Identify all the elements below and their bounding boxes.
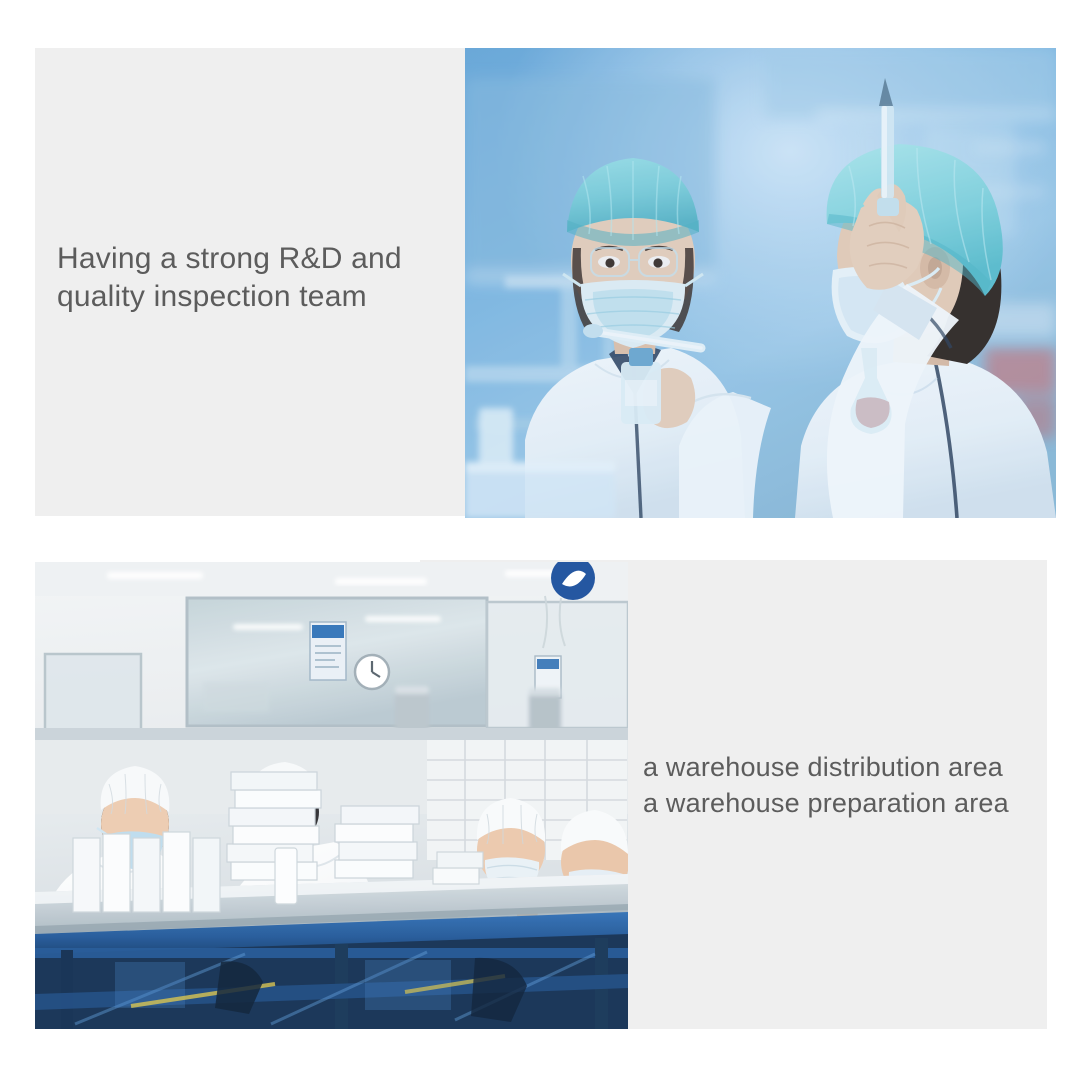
rnd-caption-text: Having a strong R&D and quality inspecti… [57, 240, 457, 317]
warehouse-caption-text: a warehouse distribution area a warehous… [643, 750, 1053, 822]
lab-technicians-photo [465, 48, 1056, 518]
banner-page: Having a strong R&D and quality inspecti… [0, 0, 1080, 1080]
lab-technicians-photo-graphic [465, 48, 1056, 518]
warehouse-packing-photo [35, 562, 628, 1029]
warehouse-packing-photo-graphic [35, 562, 628, 1029]
